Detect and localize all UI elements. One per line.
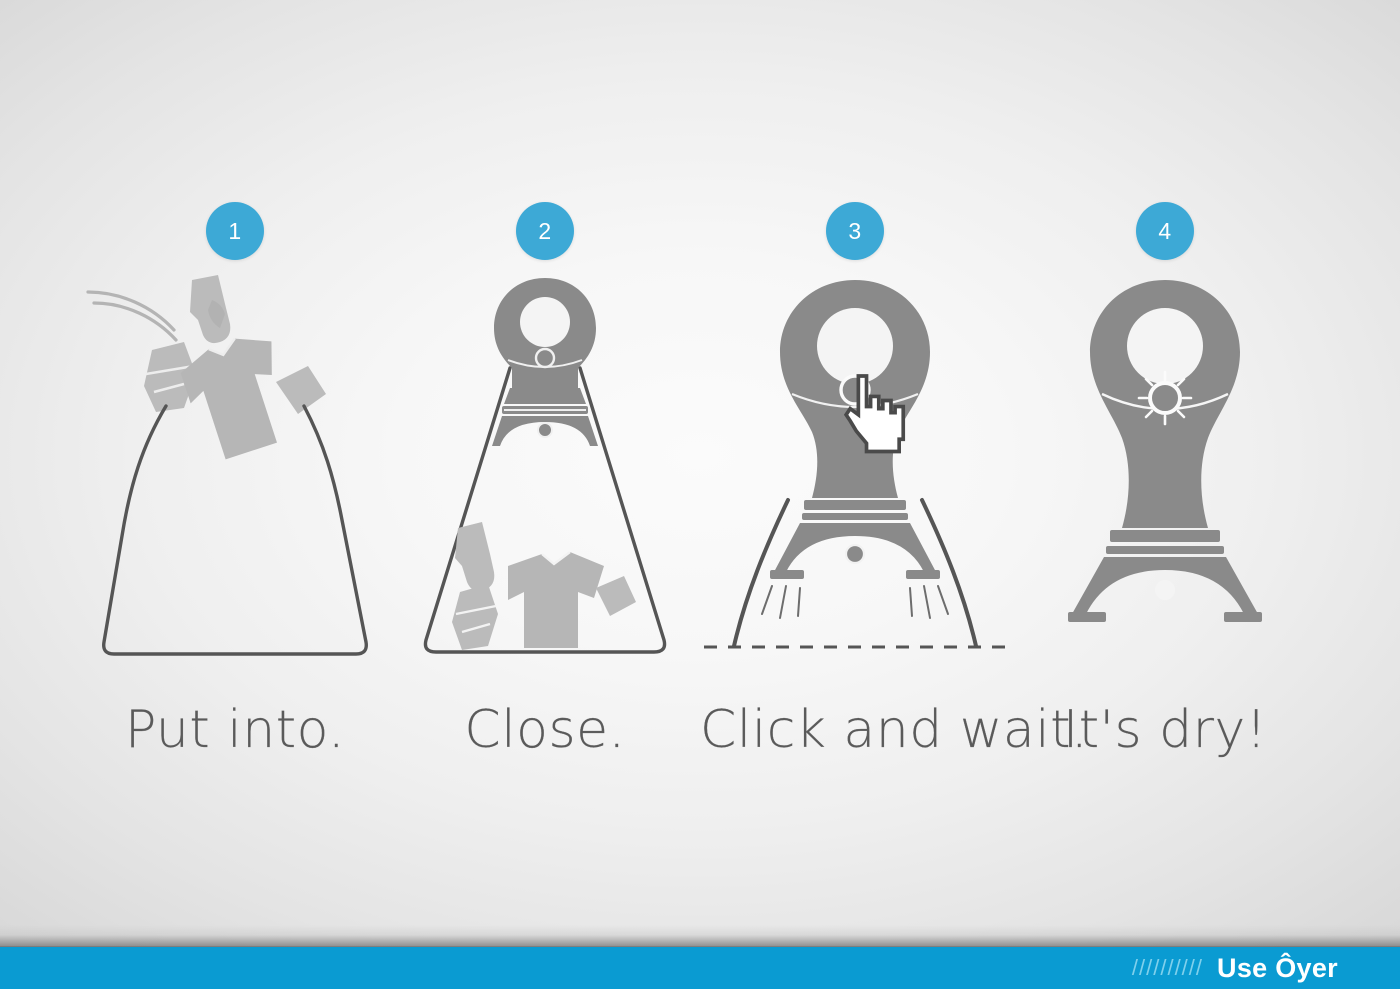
step-number-badge-3: 3 [826, 202, 884, 260]
step-1: 1 [80, 0, 390, 930]
falling-tshirt-icon [176, 328, 302, 464]
footer-bar: ////////// Use Ôyer [0, 947, 1400, 989]
step-3-caption: Click and wait. [700, 700, 1010, 760]
step-2: 2 [390, 0, 700, 930]
motion-arcs-icon [88, 292, 176, 340]
ready-sun-indicator-icon [1139, 372, 1191, 424]
step-1-caption: Put into. [80, 700, 390, 760]
step-4-illustration [1010, 270, 1320, 670]
step-4-caption: It's dry! [1010, 700, 1320, 760]
steps-row: 1 [0, 0, 1400, 930]
footer-content: ////////// Use Ôyer [1132, 955, 1400, 982]
step-2-illustration [390, 270, 700, 670]
device-body-finished [1068, 280, 1262, 622]
step-2-caption: Close. [390, 700, 700, 760]
step-number-badge-1: 1 [206, 202, 264, 260]
poster-canvas: 1 [0, 0, 1400, 989]
clothes-inside-bag-icon [452, 522, 636, 650]
footer-shadow-divider [0, 925, 1400, 947]
slashes-decoration-icon: ////////// [1132, 957, 1203, 979]
step-number-badge-4: 4 [1136, 202, 1194, 260]
device-clamp-head [492, 278, 598, 446]
step-number-badge-2: 2 [516, 202, 574, 260]
step-4: 4 [1010, 0, 1320, 930]
step-3: 3 [700, 0, 1010, 930]
falling-sleeve-icon [276, 366, 326, 414]
step-1-illustration [80, 270, 390, 670]
airflow-lines-icon [762, 586, 948, 618]
brand-name: Use Ôyer [1217, 955, 1338, 982]
falling-sock-icon [190, 275, 230, 343]
step-3-illustration [700, 270, 1010, 670]
